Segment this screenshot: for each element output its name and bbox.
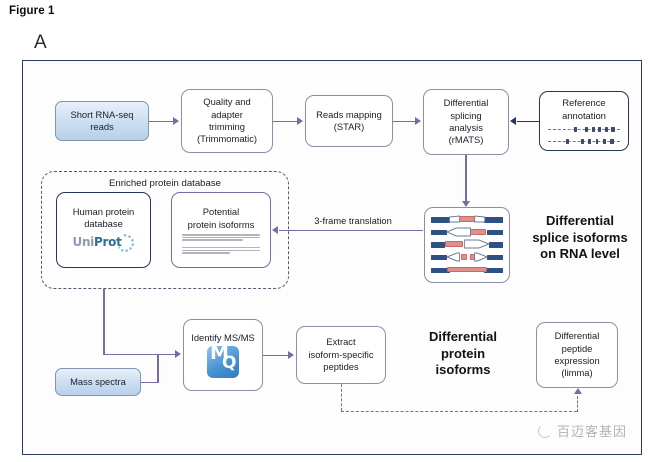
alt-exon-block: [447, 267, 487, 272]
splice-row: [431, 265, 503, 276]
node-identify-ms-ms: Identify MS/MS M Q: [183, 319, 263, 391]
node-label-line2: peptide: [562, 343, 593, 355]
gene-exon: [566, 139, 569, 144]
maxquant-q-letter: Q: [222, 357, 236, 369]
node-label-line2: reads: [90, 121, 113, 133]
gene-exon: [605, 127, 608, 132]
arrow-head-reference-to-splicing: [510, 117, 516, 125]
node-splice-isoform-graphic: [424, 207, 510, 283]
sequence-line: [182, 252, 230, 254]
label-line1: Differential: [520, 213, 640, 230]
uniprot-uni-text: Uni: [73, 235, 95, 249]
sequence-paragraph: [182, 234, 259, 241]
node-quality-adapter-trimming: Quality and adapter trimming (Trimmomati…: [181, 89, 273, 153]
node-extract-isoform-specific-peptides: Extract isoform-specific peptides: [296, 326, 386, 384]
arrow-mass-spectra-to-identify-h1: [141, 382, 159, 384]
uniprot-logo: UniProt: [73, 233, 135, 254]
gene-exon: [581, 139, 584, 144]
intron-loop-icon: [431, 239, 503, 250]
arrow-reads-to-trimming: [149, 121, 174, 123]
gene-exon: [610, 139, 614, 144]
gene-track-graphic: [548, 126, 620, 145]
sequence-line: [182, 247, 259, 249]
arrow-trimming-to-mapping: [273, 121, 298, 123]
node-reads-mapping: Reads mapping (STAR): [305, 95, 393, 147]
sequence-paragraph: [182, 247, 259, 254]
arrow-three-frame-translation: [279, 230, 423, 232]
node-potential-protein-isoforms: Potential protein isoforms: [171, 192, 271, 268]
label-three-frame-translation: 3-frame translation: [301, 216, 405, 226]
node-label-line2: annotation: [562, 110, 606, 122]
node-label-line4: (rMATS): [449, 134, 484, 146]
gene-exon: [588, 139, 591, 144]
watermark-text: 百迈客基因: [557, 421, 627, 440]
gene-axis-line: [548, 129, 620, 130]
sequence-line: [182, 250, 259, 252]
arrow-head-database-to-identify: [175, 350, 181, 358]
node-differential-peptide-expression: Differential peptide expression (limma): [536, 322, 618, 388]
watermark-logo-icon: [538, 424, 552, 438]
gene-exon: [603, 139, 606, 144]
gene-exon: [574, 127, 577, 132]
label-differential-splice-isoforms-rna: Differential splice isoforms on RNA leve…: [520, 213, 640, 263]
node-differential-splicing-analysis: Differential splicing analysis (rMATS): [423, 89, 509, 155]
splice-row: [431, 227, 503, 238]
arrow-head-reads-to-trimming: [173, 117, 179, 125]
intron-loop-icon: [431, 214, 503, 225]
arrow-splicing-to-isoforms: [465, 155, 467, 203]
node-short-rna-seq-reads: Short RNA-seq reads: [55, 101, 149, 141]
node-label-line2: isoform-specific: [308, 349, 373, 361]
arrow-mapping-to-splicing: [393, 121, 416, 123]
exon-bar: [484, 268, 503, 274]
node-label-line1: Potential: [203, 206, 239, 218]
gene-track-row: [548, 126, 620, 133]
sequence-line: [182, 239, 242, 241]
arrow-head-identify-to-extract: [288, 351, 294, 359]
diagram-frame: Short RNA-seq reads Quality and adapter …: [22, 60, 642, 455]
splice-row: [431, 239, 503, 250]
label-line1: Differential: [404, 329, 522, 346]
label-line2: splice isoforms: [520, 230, 640, 247]
gene-track-row: [548, 138, 620, 145]
node-label-line1: Differential: [444, 97, 489, 109]
label-line2: protein: [404, 346, 522, 363]
intron-loop-icon: [431, 252, 503, 263]
gene-exon: [611, 127, 615, 132]
node-label-line2: database: [84, 218, 123, 230]
gene-exon: [598, 127, 601, 132]
gene-exon: [585, 127, 588, 132]
node-label-line2: protein isoforms: [188, 219, 255, 231]
arrow-head-three-frame-translation: [272, 226, 278, 234]
node-mass-spectra: Mass spectra: [55, 368, 141, 396]
node-label-line4: (limma): [561, 367, 592, 379]
node-label-line2: splicing: [450, 110, 481, 122]
dashed-line-feedback-horizontal: [341, 411, 577, 412]
sequence-line: [182, 237, 259, 239]
intron-loop-icon: [431, 227, 503, 238]
node-label-line1: Human protein: [73, 206, 135, 218]
dashed-line-extract-down: [341, 384, 342, 411]
arrow-mass-spectra-to-identify-v: [157, 354, 159, 383]
arrow-head-mapping-to-splicing: [415, 117, 421, 125]
node-label-line1: Reference: [562, 97, 605, 109]
gene-exon: [592, 127, 595, 132]
node-label-line1: Mass spectra: [70, 376, 126, 388]
node-label-line1: Reads mapping: [316, 109, 382, 121]
arrow-identify-to-extract: [263, 355, 289, 357]
node-label-line1: Short RNA-seq: [70, 109, 133, 121]
node-label-line3: peptides: [323, 361, 358, 373]
node-label-line4: (Trimmomatic): [197, 133, 257, 145]
sequence-line: [182, 234, 259, 236]
panel-letter-a: A: [34, 32, 47, 54]
figure-caption: Figure 1: [9, 5, 55, 17]
label-line3: on RNA level: [520, 246, 640, 263]
splice-row: [431, 252, 503, 263]
node-label-line1: Extract: [326, 336, 355, 348]
enriched-group-title: Enriched protein database: [42, 178, 288, 189]
arrow-head-trimming-to-mapping: [297, 117, 303, 125]
figure-page: Figure 1 A Short RNA-seq reads Quality a…: [0, 0, 655, 462]
watermark: 百迈客基因: [538, 421, 627, 440]
arrow-database-to-identify-vertical: [103, 289, 105, 355]
node-label-line1: Differential: [555, 330, 600, 342]
node-label-line1: Identify MS/MS: [191, 332, 255, 344]
node-label-line3: analysis: [449, 122, 483, 134]
node-reference-annotation: Reference annotation: [539, 91, 629, 151]
node-label-line3: expression: [554, 355, 599, 367]
dashed-line-limma-up: [577, 396, 578, 412]
maxquant-logo: M Q: [207, 346, 239, 378]
sequence-gap: [182, 243, 259, 246]
uniprot-circle-icon: [114, 233, 136, 254]
node-label-line3: trimming: [209, 121, 245, 133]
node-label-line1: Quality and: [203, 96, 250, 108]
label-line3: isoforms: [404, 362, 522, 379]
arrow-head-feedback-to-limma: [574, 388, 582, 394]
node-label-line2: adapter: [211, 109, 243, 121]
splice-isoform-illustration: [431, 212, 503, 277]
label-differential-protein-isoforms: Differential protein isoforms: [404, 329, 522, 379]
node-label-line2: (STAR): [334, 121, 365, 133]
protein-sequence-graphic: [182, 234, 259, 254]
node-human-protein-database: Human protein database UniProt: [56, 192, 151, 268]
arrow-reference-to-splicing: [517, 121, 541, 123]
arrow-database-to-identify-horizontal: [103, 354, 177, 356]
gene-exon: [596, 139, 599, 144]
splice-row: [431, 214, 503, 225]
